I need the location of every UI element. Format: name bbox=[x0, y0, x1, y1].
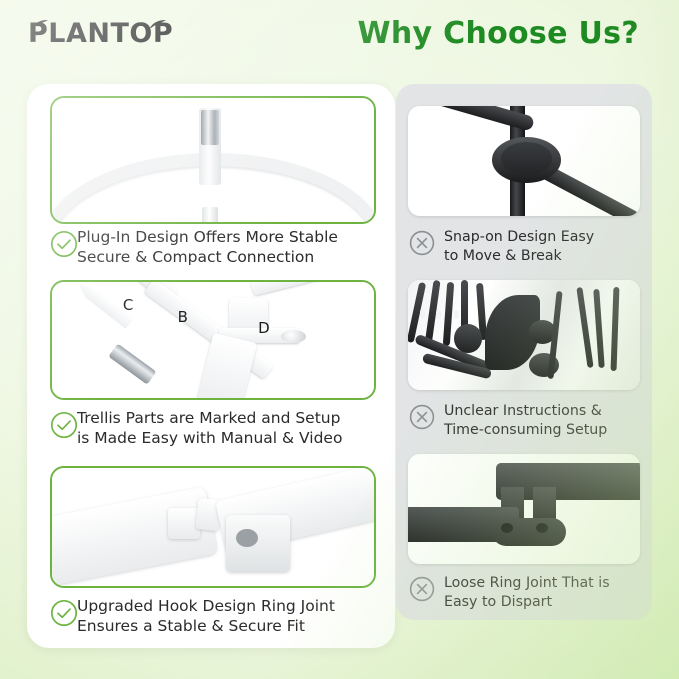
cons-image-2 bbox=[408, 280, 640, 390]
cons-text-3-line2: Easy to Dispart bbox=[444, 593, 654, 612]
check-circle-icon bbox=[50, 599, 78, 627]
part-label-d: D bbox=[258, 319, 270, 337]
x-circle-icon bbox=[409, 230, 435, 256]
pros-text-1-line1: Plug-In Design Offers More Stable bbox=[77, 227, 377, 247]
cons-text-3: Loose Ring Joint That is Easy to Dispart bbox=[444, 574, 654, 612]
x-circle-icon bbox=[409, 404, 435, 430]
check-circle-icon bbox=[50, 411, 78, 439]
cons-text-2-line1: Unclear Instructions & bbox=[444, 402, 654, 421]
pros-text-3-line2: Ensures a Stable & Secure Fit bbox=[77, 616, 377, 636]
pros-text-3: Upgraded Hook Design Ring Joint Ensures … bbox=[77, 596, 377, 636]
part-label-b: B bbox=[178, 308, 188, 326]
x-circle-icon bbox=[409, 576, 435, 602]
pros-text-2: Trellis Parts are Marked and Setup is Ma… bbox=[77, 408, 377, 448]
pros-text-2-line1: Trellis Parts are Marked and Setup bbox=[77, 408, 377, 428]
check-circle-icon bbox=[50, 230, 78, 258]
pros-image-3 bbox=[50, 466, 376, 588]
pros-text-2-line2: is Made Easy with Manual & Video bbox=[77, 428, 377, 448]
infographic-page: PLANTOP Why Choose Us? Plug-In Design Of… bbox=[0, 0, 679, 679]
page-title: Why Choose Us? bbox=[357, 16, 639, 51]
cons-image-3 bbox=[408, 454, 640, 564]
pros-image-1 bbox=[50, 96, 376, 224]
cons-text-1: Snap-on Design Easy to Move & Break bbox=[444, 228, 654, 266]
pros-text-1: Plug-In Design Offers More Stable Secure… bbox=[77, 227, 377, 267]
cons-text-2-line2: Time-consuming Setup bbox=[444, 421, 654, 440]
pros-text-1-line2: Secure & Compact Connection bbox=[77, 247, 377, 267]
cons-panel: Snap-on Design Easy to Move & Break bbox=[396, 84, 652, 620]
pros-panel: Plug-In Design Offers More Stable Secure… bbox=[27, 84, 395, 648]
pros-image-2: C B D bbox=[50, 280, 376, 400]
brand-name: PLANTOP bbox=[28, 18, 173, 49]
cons-text-2: Unclear Instructions & Time-consuming Se… bbox=[444, 402, 654, 440]
brand-logo: PLANTOP bbox=[28, 18, 173, 49]
cons-image-1 bbox=[408, 106, 640, 216]
cons-text-1-line1: Snap-on Design Easy bbox=[444, 228, 654, 247]
cons-text-3-line1: Loose Ring Joint That is bbox=[444, 574, 654, 593]
cons-text-1-line2: to Move & Break bbox=[444, 247, 654, 266]
pros-text-3-line1: Upgraded Hook Design Ring Joint bbox=[77, 596, 377, 616]
part-label-c: C bbox=[123, 296, 133, 314]
